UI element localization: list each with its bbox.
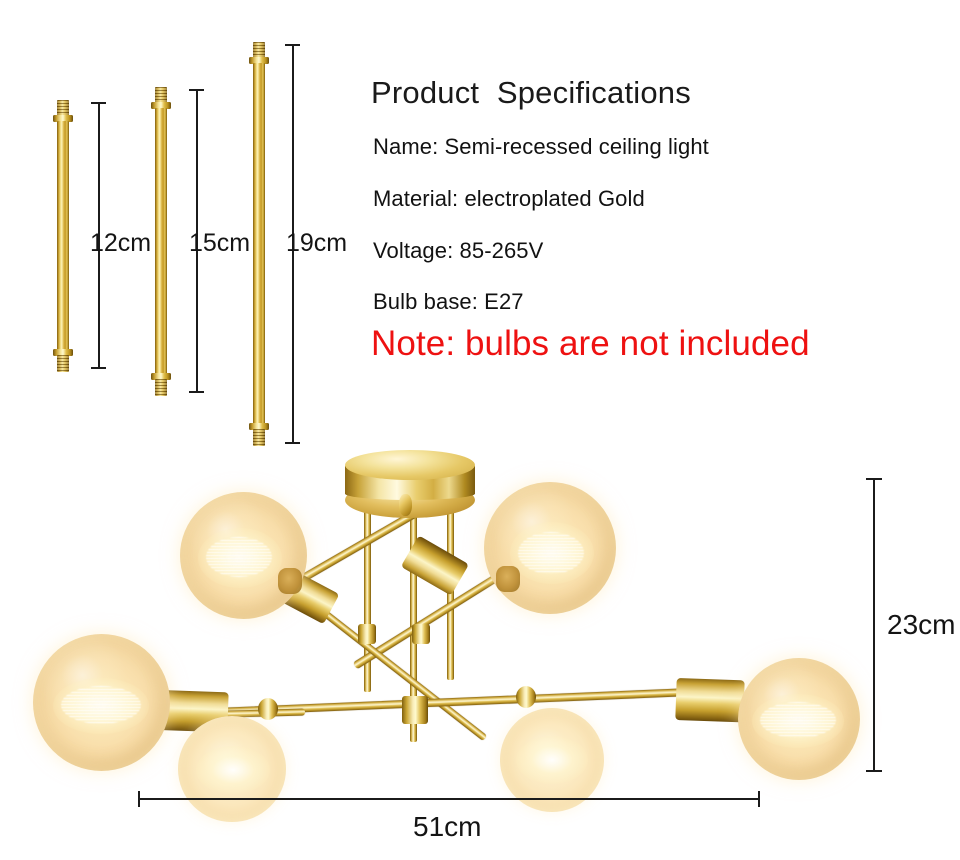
spec-title: Product Specifications [371, 74, 691, 112]
joint-right-arm [516, 686, 536, 708]
dim-cap-15cm-bottom [189, 391, 204, 393]
dim-label-width-51cm: 51cm [413, 810, 481, 844]
ceiling-light-fixture [0, 440, 880, 820]
spec-line-material: Material: electroplated Gold [373, 185, 645, 213]
filament-upper-right [518, 532, 584, 574]
spec-line-voltage: Voltage: 85-265V [373, 237, 543, 265]
product-spec-image: 12cm 15cm 19cm Product Specifications Na… [0, 0, 960, 860]
bulb-lower-right-background [500, 708, 604, 812]
dim-label-12cm: 12cm [90, 228, 151, 258]
dim-label-19cm: 19cm [286, 228, 347, 258]
rod-15cm-shaft [155, 108, 167, 375]
bulb-neck-upper-right [496, 566, 520, 592]
joint-center-main [402, 696, 428, 724]
rod-12cm [52, 100, 74, 372]
filament-right [760, 702, 836, 738]
dim-cap-height-top [866, 478, 882, 480]
rod-12cm-bottom-thread [57, 355, 69, 372]
rod-15cm [150, 87, 172, 396]
ceiling-plate-top [345, 450, 475, 480]
dim-cap-15cm-top [189, 89, 204, 91]
bulb-neck-upper-left [278, 568, 302, 594]
spec-line-name: Name: Semi-recessed ceiling light [373, 133, 709, 161]
joint-upper-left-cross [358, 624, 376, 644]
spec-line-bulb-base: Bulb base: E27 [373, 288, 524, 316]
bulb-right [738, 658, 860, 780]
joint-upper-right-cross [412, 624, 430, 644]
dim-cap-12cm-bottom [91, 367, 106, 369]
bulb-lower-left-background [178, 716, 286, 822]
socket-right [675, 678, 744, 722]
rod-19cm [248, 42, 270, 446]
rod-19cm-shaft [253, 63, 265, 425]
dim-cap-height-bottom [866, 770, 882, 772]
rod-12cm-shaft [57, 121, 69, 351]
bulb-upper-right [484, 482, 616, 614]
dim-cap-19cm-top [285, 44, 300, 46]
dim-label-15cm: 15cm [189, 228, 250, 258]
rod-12cm-top-thread [57, 100, 69, 116]
filament-upper-left [206, 537, 272, 577]
dim-cap-width-left [138, 791, 140, 807]
dim-cap-width-right [758, 791, 760, 807]
filament-glow-lower-right [516, 736, 588, 784]
dim-cap-12cm-top [91, 102, 106, 104]
rod-15cm-top-thread [155, 87, 167, 103]
rod-15cm-bottom-thread [155, 379, 167, 396]
filament-glow-lower-left [196, 746, 270, 794]
spec-note-bulbs-not-included: Note: bulbs are not included [371, 322, 810, 366]
dim-line-height-23cm [873, 478, 875, 772]
rod-19cm-top-thread [253, 42, 265, 58]
bulb-upper-left [180, 492, 307, 619]
dim-line-width-51cm [138, 798, 760, 800]
bulb-left [33, 634, 170, 771]
joint-left-arm [258, 698, 278, 720]
ceiling-plate-center-nut [399, 494, 412, 516]
filament-left [61, 686, 141, 724]
dim-label-height-23cm: 23cm [887, 608, 955, 642]
